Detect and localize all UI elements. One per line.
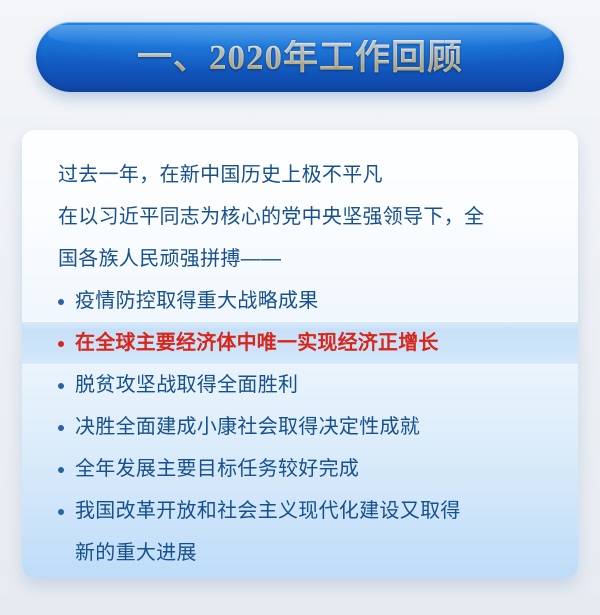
list-item-line-1: 决胜全面建成小康社会取得决定性成就 (75, 406, 420, 448)
list-item-line-1: 在全球主要经济体中唯一实现经济正增长 (75, 322, 439, 364)
list-item-text: 决胜全面建成小康社会取得决定性成就 (75, 406, 420, 448)
intro-paragraph: 过去一年，在新中国历史上极不平凡 在以习近平同志为核心的党中央坚强领导下，全 国… (22, 154, 578, 280)
achievement-list: 疫情防控取得重大战略成果 在全球主要经济体中唯一实现经济正增长 脱贫攻坚战取得全… (22, 280, 578, 574)
content-card: 过去一年，在新中国历史上极不平凡 在以习近平同志为核心的党中央坚强领导下，全 国… (22, 130, 578, 578)
list-item-line-1: 全年发展主要目标任务较好完成 (75, 448, 359, 490)
bullet-dot-icon (58, 299, 64, 305)
list-item-text: 在全球主要经济体中唯一实现经济正增长 (75, 322, 439, 364)
page-title: 一、2020年工作回顾 (137, 40, 463, 75)
header-area: 一、2020年工作回顾 (0, 22, 600, 92)
list-item-text: 脱贫攻坚战取得全面胜利 (75, 364, 298, 406)
bullet-dot-icon (58, 383, 64, 389)
slide-page: 一、2020年工作回顾 过去一年，在新中国历史上极不平凡 在以习近平同志为核心的… (0, 0, 600, 615)
list-item-line-2: 新的重大进展 (75, 532, 461, 574)
intro-line-3: 国各族人民顽强拼搏—— (58, 238, 556, 280)
list-item[interactable]: 疫情防控取得重大战略成果 (22, 280, 578, 322)
list-item-text: 我国改革开放和社会主义现代化建设又取得 新的重大进展 (75, 490, 461, 574)
list-item[interactable]: 我国改革开放和社会主义现代化建设又取得 新的重大进展 (22, 490, 578, 574)
bullet-dot-icon (58, 425, 64, 431)
list-item-text: 全年发展主要目标任务较好完成 (75, 448, 359, 490)
content-card-body: 过去一年，在新中国历史上极不平凡 在以习近平同志为核心的党中央坚强领导下，全 国… (22, 130, 578, 578)
list-item-line-1: 脱贫攻坚战取得全面胜利 (75, 364, 298, 406)
section-title-banner: 一、2020年工作回顾 (36, 22, 564, 92)
list-item[interactable]: 全年发展主要目标任务较好完成 (22, 448, 578, 490)
list-item-line-1: 我国改革开放和社会主义现代化建设又取得 (75, 490, 461, 532)
bullet-dot-icon (58, 467, 64, 473)
intro-line-2: 在以习近平同志为核心的党中央坚强领导下，全 (58, 196, 556, 238)
list-item-text: 疫情防控取得重大战略成果 (75, 280, 319, 322)
bullet-dot-icon (58, 341, 64, 347)
intro-line-1: 过去一年，在新中国历史上极不平凡 (58, 154, 556, 196)
list-item-line-1: 疫情防控取得重大战略成果 (75, 280, 319, 322)
list-item[interactable]: 脱贫攻坚战取得全面胜利 (22, 364, 578, 406)
list-item-highlighted[interactable]: 在全球主要经济体中唯一实现经济正增长 (22, 322, 578, 364)
bullet-dot-icon (58, 509, 64, 515)
list-item[interactable]: 决胜全面建成小康社会取得决定性成就 (22, 406, 578, 448)
